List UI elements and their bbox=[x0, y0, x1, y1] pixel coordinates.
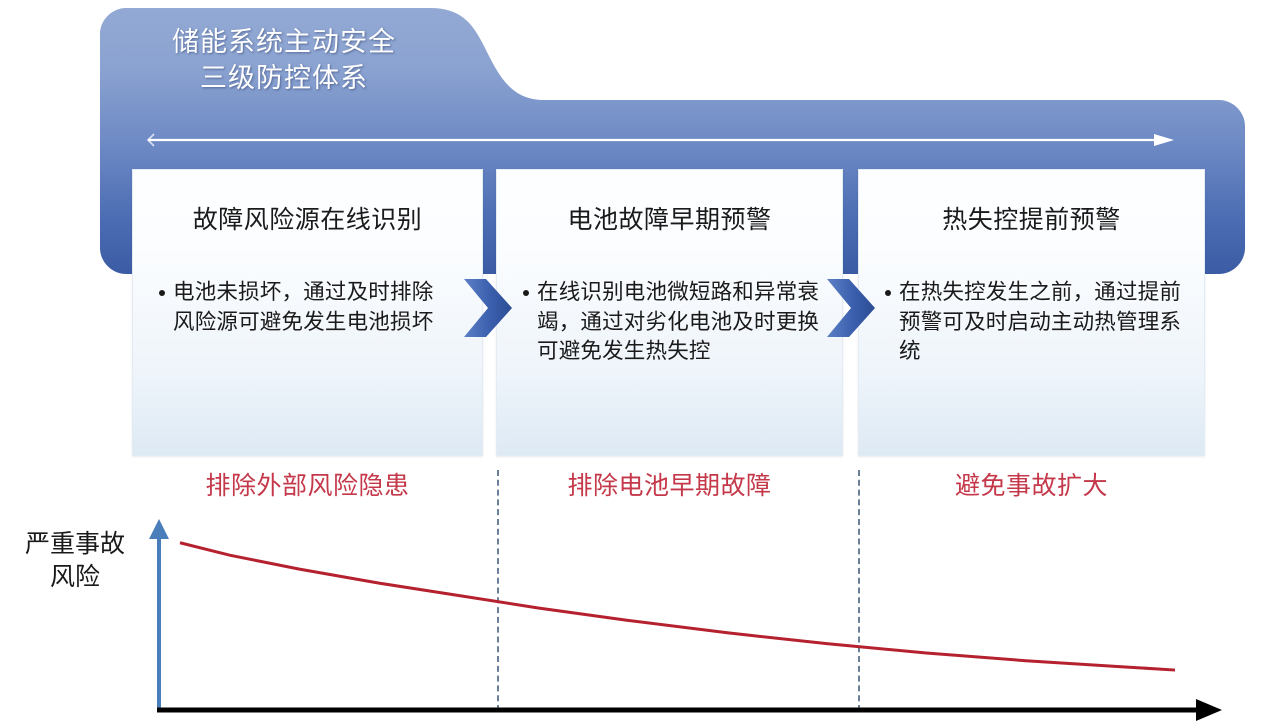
y-axis-label: 严重事故 风险 bbox=[4, 528, 146, 593]
y-axis bbox=[149, 519, 169, 711]
banner-title: 储能系统主动安全 三级防控体系 bbox=[124, 24, 444, 97]
chevron-right-icon bbox=[462, 277, 514, 339]
bullet-dot-icon bbox=[523, 290, 529, 296]
progression-arrow-icon bbox=[146, 132, 1176, 148]
stage-caption-3: 避免事故扩大 bbox=[858, 466, 1205, 502]
stage-caption-1: 排除外部风险隐患 bbox=[132, 466, 483, 502]
panel-1-body: 电池未损坏，通过及时排除风险源可避免发生电池损坏 bbox=[153, 278, 468, 337]
risk-curve bbox=[180, 543, 1175, 670]
panel-1-body-text: 电池未损坏，通过及时排除风险源可避免发生电池损坏 bbox=[173, 278, 468, 337]
panel-2-body-text: 在线识别电池微短路和异常衰竭，通过对劣化电池及时更换可避免发生热失控 bbox=[537, 278, 828, 367]
panel-2-heading: 电池故障早期预警 bbox=[497, 200, 842, 236]
stage-panel-2[interactable]: 电池故障早期预警 在线识别电池微短路和异常衰竭，通过对劣化电池及时更换可避免发生… bbox=[496, 169, 843, 456]
panel-3-heading: 热失控提前预警 bbox=[859, 200, 1204, 236]
risk-decay-chart bbox=[0, 505, 1269, 721]
x-axis bbox=[157, 699, 1222, 721]
panel-3-body-text: 在热失控发生之前，通过提前预警可及时启动主动热管理系统 bbox=[899, 278, 1190, 367]
panel-3-body: 在热失控发生之前，通过提前预警可及时启动主动热管理系统 bbox=[879, 278, 1190, 367]
stage-panel-1[interactable]: 故障风险源在线识别 电池未损坏，通过及时排除风险源可避免发生电池损坏 bbox=[132, 169, 483, 456]
chevron-right-icon bbox=[825, 277, 877, 339]
panel-1-heading: 故障风险源在线识别 bbox=[133, 200, 482, 236]
stage-caption-2: 排除电池早期故障 bbox=[496, 466, 843, 502]
stage-panel-3[interactable]: 热失控提前预警 在热失控发生之前，通过提前预警可及时启动主动热管理系统 bbox=[858, 169, 1205, 456]
bullet-dot-icon bbox=[159, 290, 165, 296]
panel-2-body: 在线识别电池微短路和异常衰竭，通过对劣化电池及时更换可避免发生热失控 bbox=[517, 278, 828, 367]
slide-canvas: 储能系统主动安全 三级防控体系 故障风险源在线识别 电池未损坏，通过及时排除风险… bbox=[0, 0, 1269, 721]
bullet-dot-icon bbox=[885, 290, 891, 296]
